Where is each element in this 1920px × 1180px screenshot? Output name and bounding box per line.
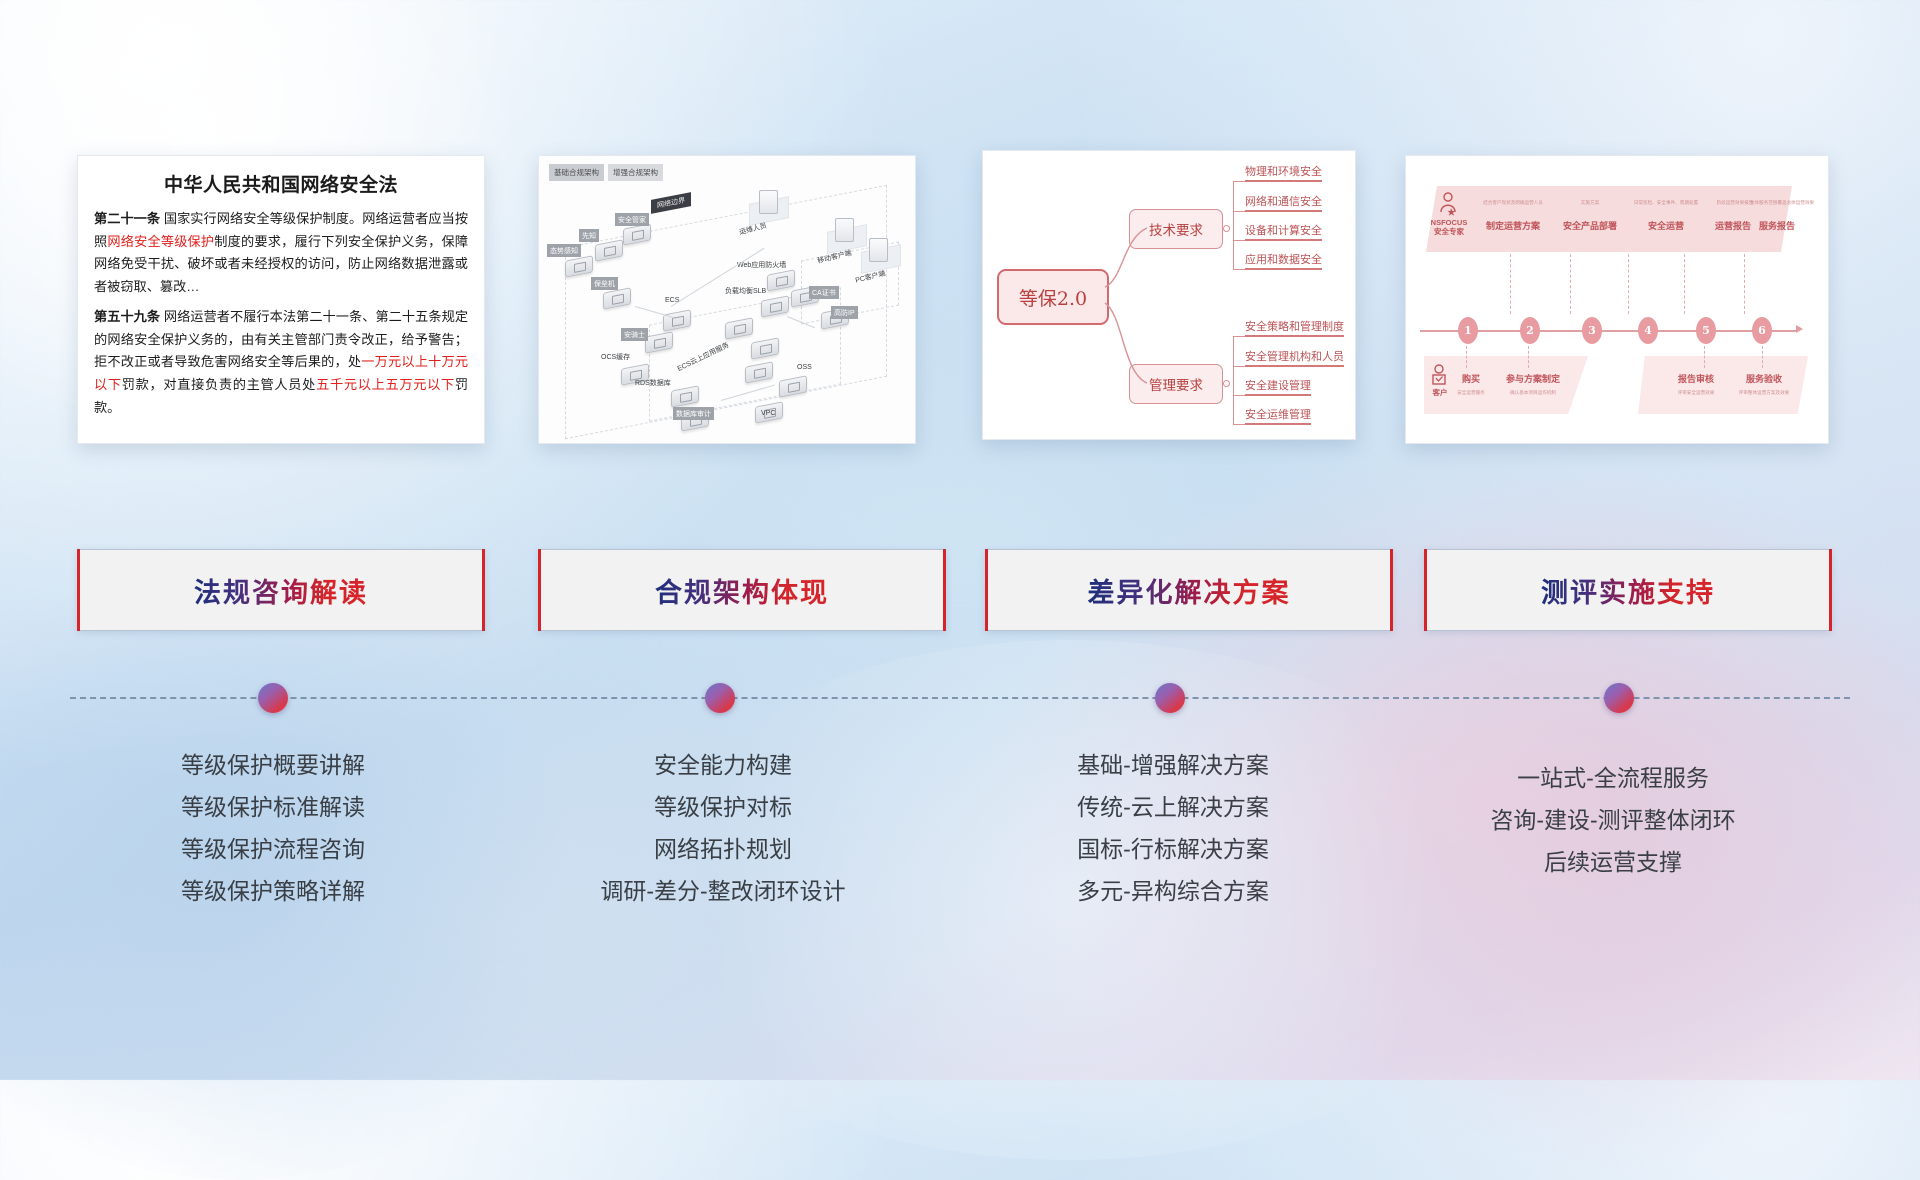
mindmap-leaf-t2: 网络和通信安全 [1245, 193, 1322, 212]
list-item: 安全能力构建 [513, 745, 933, 787]
roadmap-actor-expert-line1: NSFOCUS [1424, 218, 1474, 227]
architecture-icon-ecs [663, 309, 691, 331]
timeline-dot-1[interactable] [258, 683, 288, 713]
roadmap-node-2[interactable]: 2 [1520, 317, 1540, 344]
mindmap-leaf-m1: 安全策略和管理制度 [1245, 318, 1344, 337]
roadmap-top-main-5: 服务报告 [1744, 219, 1810, 232]
architecture-icon-anqishi [645, 331, 673, 353]
card-cybersecurity-law: 中华人民共和国网络安全法 第二十一条 国家实行网络安全等级保护制度。网络运营者应… [77, 155, 485, 444]
architecture-icon-rds [671, 385, 699, 407]
mindmap-leaf-m4: 安全运维管理 [1245, 406, 1311, 425]
roadmap-node-3[interactable]: 3 [1582, 317, 1602, 344]
mindmap: 等保2.0 技术要求 管理要求 物理和环境安全 网络和通信安全 设备和计算安全 … [983, 151, 1355, 439]
list-item: 多元-异构综合方案 [963, 871, 1383, 913]
roadmap-top-main-2: 安全产品部署 [1552, 219, 1628, 232]
law-article-59-text-b: 罚款，对直接负责的主管人员处 [122, 377, 316, 392]
roadmap-bottom-sub-1: 安全运营服务 [1444, 390, 1498, 396]
card-compliance-architecture: 基础合规架构 增强合规架构 网络边界 安全管家 先知 态势感知 保垒机 ECS … [538, 155, 916, 444]
architecture-label-oss: OSS [797, 364, 812, 371]
mindmap-leaf-t3: 设备和计算安全 [1245, 222, 1322, 241]
mindmap-leaf-t1: 物理和环境安全 [1245, 163, 1322, 182]
architecture-label-waf: Web应用防火墙 [737, 260, 786, 270]
architecture-label-ca: CA证书 [809, 286, 839, 299]
architecture-label-vpc: VPC [761, 410, 775, 417]
list-item: 等级保护流程咨询 [63, 829, 483, 871]
expert-person-icon [1438, 192, 1458, 216]
roadmap-actor-expert: NSFOCUS 安全专家 [1424, 218, 1474, 237]
mindmap-tick-t3 [1233, 240, 1245, 241]
column-regulation-consulting: 等级保护概要讲解 等级保护标准解读 等级保护流程咨询 等级保护策略详解 [63, 745, 483, 912]
architecture-label-security-butler: 安全管家 [615, 213, 649, 226]
architecture-icon-xianzhi [595, 239, 623, 261]
mindmap-collapse-dot-technical[interactable] [1223, 225, 1230, 232]
mindmap-leaf-m3: 安全建设管理 [1245, 377, 1311, 396]
architecture-icon-situational-awareness [565, 255, 593, 277]
list-item: 传统-云上解决方案 [963, 787, 1383, 829]
timeline-dashed-line [70, 697, 1850, 699]
banner-label-4: 测评实施支持 [1541, 571, 1715, 610]
roadmap-dash-4 [1628, 254, 1629, 314]
list-item: 后续运营支撑 [1403, 842, 1823, 884]
architecture-diagram: 基础合规架构 增强合规架构 网络边界 安全管家 先知 态势感知 保垒机 ECS … [539, 156, 915, 443]
roadmap-top-sub-5: 总体服务范围覆盖总体运营效果 [1734, 200, 1829, 206]
roadmap-dash-b3 [1704, 346, 1705, 368]
card-dengbao-mindmap: 等保2.0 技术要求 管理要求 物理和环境安全 网络和通信安全 设备和计算安全 … [982, 150, 1356, 440]
law-title: 中华人民共和国网络安全法 [94, 170, 468, 197]
roadmap-top-main-3: 安全运营 [1628, 219, 1704, 232]
banner-label-2: 合规架构体现 [655, 571, 829, 610]
architecture-label-situational-awareness: 态势感知 [547, 244, 581, 257]
roadmap-dash-b4 [1762, 346, 1763, 368]
roadmap-bottom-main-2: 参与方案制定 [1498, 372, 1568, 385]
list-item: 国标-行标解决方案 [963, 829, 1383, 871]
mindmap-tick-t2 [1233, 211, 1245, 212]
roadmap-actor-expert-line2: 安全专家 [1424, 227, 1474, 236]
list-item: 等级保护标准解读 [63, 787, 483, 829]
roadmap-node-4[interactable]: 4 [1638, 317, 1658, 344]
law-article-59-label: 第五十九条 [94, 309, 160, 324]
architecture-label-anqishi: 安骑士 [621, 328, 648, 341]
list-item: 等级保护对标 [513, 787, 933, 829]
banner-assessment-support[interactable]: 测评实施支持 [1424, 549, 1832, 631]
list-item: 一站式-全流程服务 [1403, 758, 1823, 800]
architecture-label-anti-ddos: 高防IP [831, 306, 858, 319]
mindmap-spine-management [1233, 336, 1234, 424]
architecture-icon-pc-client [869, 238, 888, 262]
banner-label-1: 法规咨询解读 [194, 571, 368, 610]
banner-differentiated-solution[interactable]: 差异化解决方案 [985, 549, 1393, 631]
architecture-label-db-audit: 数据库审计 [673, 407, 714, 420]
mindmap-collapse-dot-management[interactable] [1223, 380, 1230, 387]
card-row: 中华人民共和国网络安全法 第二十一条 国家实行网络安全等级保护制度。网络运营者应… [0, 0, 1920, 460]
roadmap-top-sub-2: 实施方案 [1552, 200, 1628, 206]
architecture-tab-enhanced[interactable]: 增强合规架构 [608, 164, 663, 181]
architecture-label-rds: RDS数据库 [635, 378, 671, 388]
column-compliance-architecture: 安全能力构建 等级保护对标 网络拓扑规划 调研-差分-整改闭环设计 [513, 745, 933, 912]
mindmap-spine-technical [1233, 181, 1234, 269]
banner-compliance-architecture[interactable]: 合规架构体现 [538, 549, 946, 631]
timeline-dot-2[interactable] [705, 683, 735, 713]
law-article-59-highlight-b: 五千元以上五万元以下 [316, 377, 455, 392]
architecture-icon-slb [761, 295, 789, 317]
mindmap-tick-m4 [1233, 424, 1245, 425]
architecture-label-slb: 负载均衡SLB [725, 286, 766, 296]
roadmap-bottom-sub-4: 评审整体运营方案及效果 [1726, 390, 1802, 396]
law-article-59: 第五十九条 网络运营者不履行本法第二十一条、第二十五条规定的网络安全保护义务的，… [94, 306, 468, 420]
banner-regulation-consulting[interactable]: 法规咨询解读 [77, 549, 485, 631]
roadmap-dash-2 [1510, 254, 1511, 314]
roadmap-node-1[interactable]: 1 [1458, 317, 1478, 344]
list-item: 网络拓扑规划 [513, 829, 933, 871]
roadmap-dash-6 [1744, 254, 1745, 314]
architecture-label-xianzhi: 先知 [579, 229, 599, 242]
roadmap-bottom-main-1: 购买 [1452, 372, 1490, 385]
card-nsfocus-roadmap: NSFOCUS 安全专家 客户 结合客户现状及明确运营人员 制定运营方案 实施方… [1405, 155, 1829, 444]
roadmap-top-sub-1: 结合客户现状及明确运营人员 [1472, 200, 1554, 206]
timeline-dot-3[interactable] [1155, 683, 1185, 713]
roadmap-bottom-sub-3: 评审安全运营效果 [1660, 390, 1732, 396]
architecture-label-bastion-host: 保垒机 [591, 277, 618, 290]
architecture-icon-ops-person [759, 190, 778, 214]
roadmap-bottom-main-3: 报告审核 [1668, 372, 1724, 385]
roadmap-band-customer-left [1424, 356, 1588, 414]
list-item: 等级保护概要讲解 [63, 745, 483, 787]
roadmap-top-main-1: 制定运营方案 [1472, 219, 1554, 232]
architecture-label-network-border: 网络边界 [651, 192, 691, 214]
architecture-icon-app-3 [745, 361, 773, 383]
architecture-icon-security-butler [623, 223, 651, 245]
roadmap-axis-arrow-icon [1796, 325, 1803, 333]
roadmap-node-5[interactable]: 5 [1696, 317, 1716, 344]
column-assessment-support: 一站式-全流程服务 咨询-建设-测评整体闭环 后续运营支撑 [1403, 758, 1823, 884]
roadmap-dash-5 [1684, 254, 1685, 314]
architecture-label-ocs-cache: OCS缓存 [601, 352, 630, 362]
timeline-dot-4[interactable] [1604, 683, 1634, 713]
roadmap-node-6[interactable]: 6 [1752, 317, 1772, 344]
list-item: 等级保护策略详解 [63, 871, 483, 913]
list-item: 咨询-建设-测评整体闭环 [1403, 800, 1823, 842]
roadmap-dash-b1 [1466, 346, 1467, 368]
list-item: 基础-增强解决方案 [963, 745, 1383, 787]
roadmap-bottom-sub-2: 确认基本项目运作机制 [1500, 390, 1566, 396]
roadmap: NSFOCUS 安全专家 客户 结合客户现状及明确运营人员 制定运营方案 实施方… [1406, 156, 1828, 443]
mindmap-tick-m3 [1233, 395, 1245, 396]
column-differentiated-solution: 基础-增强解决方案 传统-云上解决方案 国标-行标解决方案 多元-异构综合方案 [963, 745, 1383, 912]
roadmap-dash-3 [1570, 254, 1571, 314]
mindmap-leaf-t4: 应用和数据安全 [1245, 251, 1322, 270]
mindmap-tick-t4 [1233, 269, 1245, 270]
architecture-icon-app-2 [751, 337, 779, 359]
mindmap-tick-m2 [1233, 366, 1245, 367]
law-article-21-label: 第二十一条 [94, 211, 160, 226]
law-body: 中华人民共和国网络安全法 第二十一条 国家实行网络安全等级保护制度。网络运营者应… [78, 156, 484, 443]
architecture-icon-bastion-host [603, 287, 631, 309]
architecture-icon-mobile-client [835, 218, 854, 242]
roadmap-dash-b2 [1528, 346, 1529, 368]
roadmap-band-customer-right [1638, 356, 1808, 414]
customer-person-icon [1430, 364, 1448, 386]
banner-label-3: 差异化解决方案 [1088, 571, 1291, 610]
list-item: 调研-差分-整改闭环设计 [513, 871, 933, 913]
architecture-icon-oss [779, 375, 807, 397]
law-article-21-highlight: 网络安全等级保护 [107, 234, 214, 249]
mindmap-tick-t1 [1233, 181, 1245, 182]
mindmap-leaf-m2: 安全管理机构和人员 [1245, 348, 1344, 367]
law-article-21: 第二十一条 国家实行网络安全等级保护制度。网络运营者应当按照网络安全等级保护制度… [94, 208, 468, 299]
architecture-icon-app-1 [725, 317, 753, 339]
roadmap-bottom-main-4: 服务验收 [1736, 372, 1792, 385]
mindmap-tick-m1 [1233, 336, 1245, 337]
architecture-tab-basic[interactable]: 基础合规架构 [549, 164, 604, 181]
architecture-tabs: 基础合规架构 增强合规架构 [549, 164, 663, 181]
